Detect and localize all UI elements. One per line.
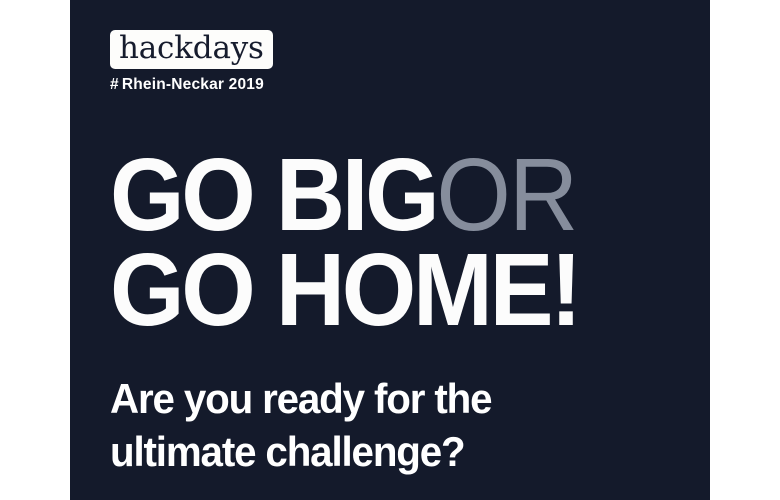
headline-line-1: GO BIGOR <box>110 148 649 243</box>
logo-subtitle-text: Rhein-Neckar 2019 <box>122 76 264 93</box>
brand-logo-lockup: hackdays #Rhein-Neckar 2019 <box>110 30 273 94</box>
subhead-line-1: Are you ready for the <box>110 372 648 425</box>
headline-line-2: GO HOME! <box>110 243 649 338</box>
logo-subtitle: #Rhein-Neckar 2019 <box>110 76 273 94</box>
subhead-line-2: ultimate challenge? <box>110 425 648 478</box>
hash-icon: # <box>110 76 119 93</box>
poster-canvas: hackdays #Rhein-Neckar 2019 GO BIGOR GO … <box>0 0 780 500</box>
logo-wordmark-text: hackdays <box>119 32 264 65</box>
headline-block: GO BIGOR GO HOME! <box>110 148 690 338</box>
subhead-block: Are you ready for the ultimate challenge… <box>110 372 670 479</box>
poster-panel: hackdays #Rhein-Neckar 2019 GO BIGOR GO … <box>70 0 710 500</box>
logo-wordmark-box: hackdays <box>110 30 273 69</box>
